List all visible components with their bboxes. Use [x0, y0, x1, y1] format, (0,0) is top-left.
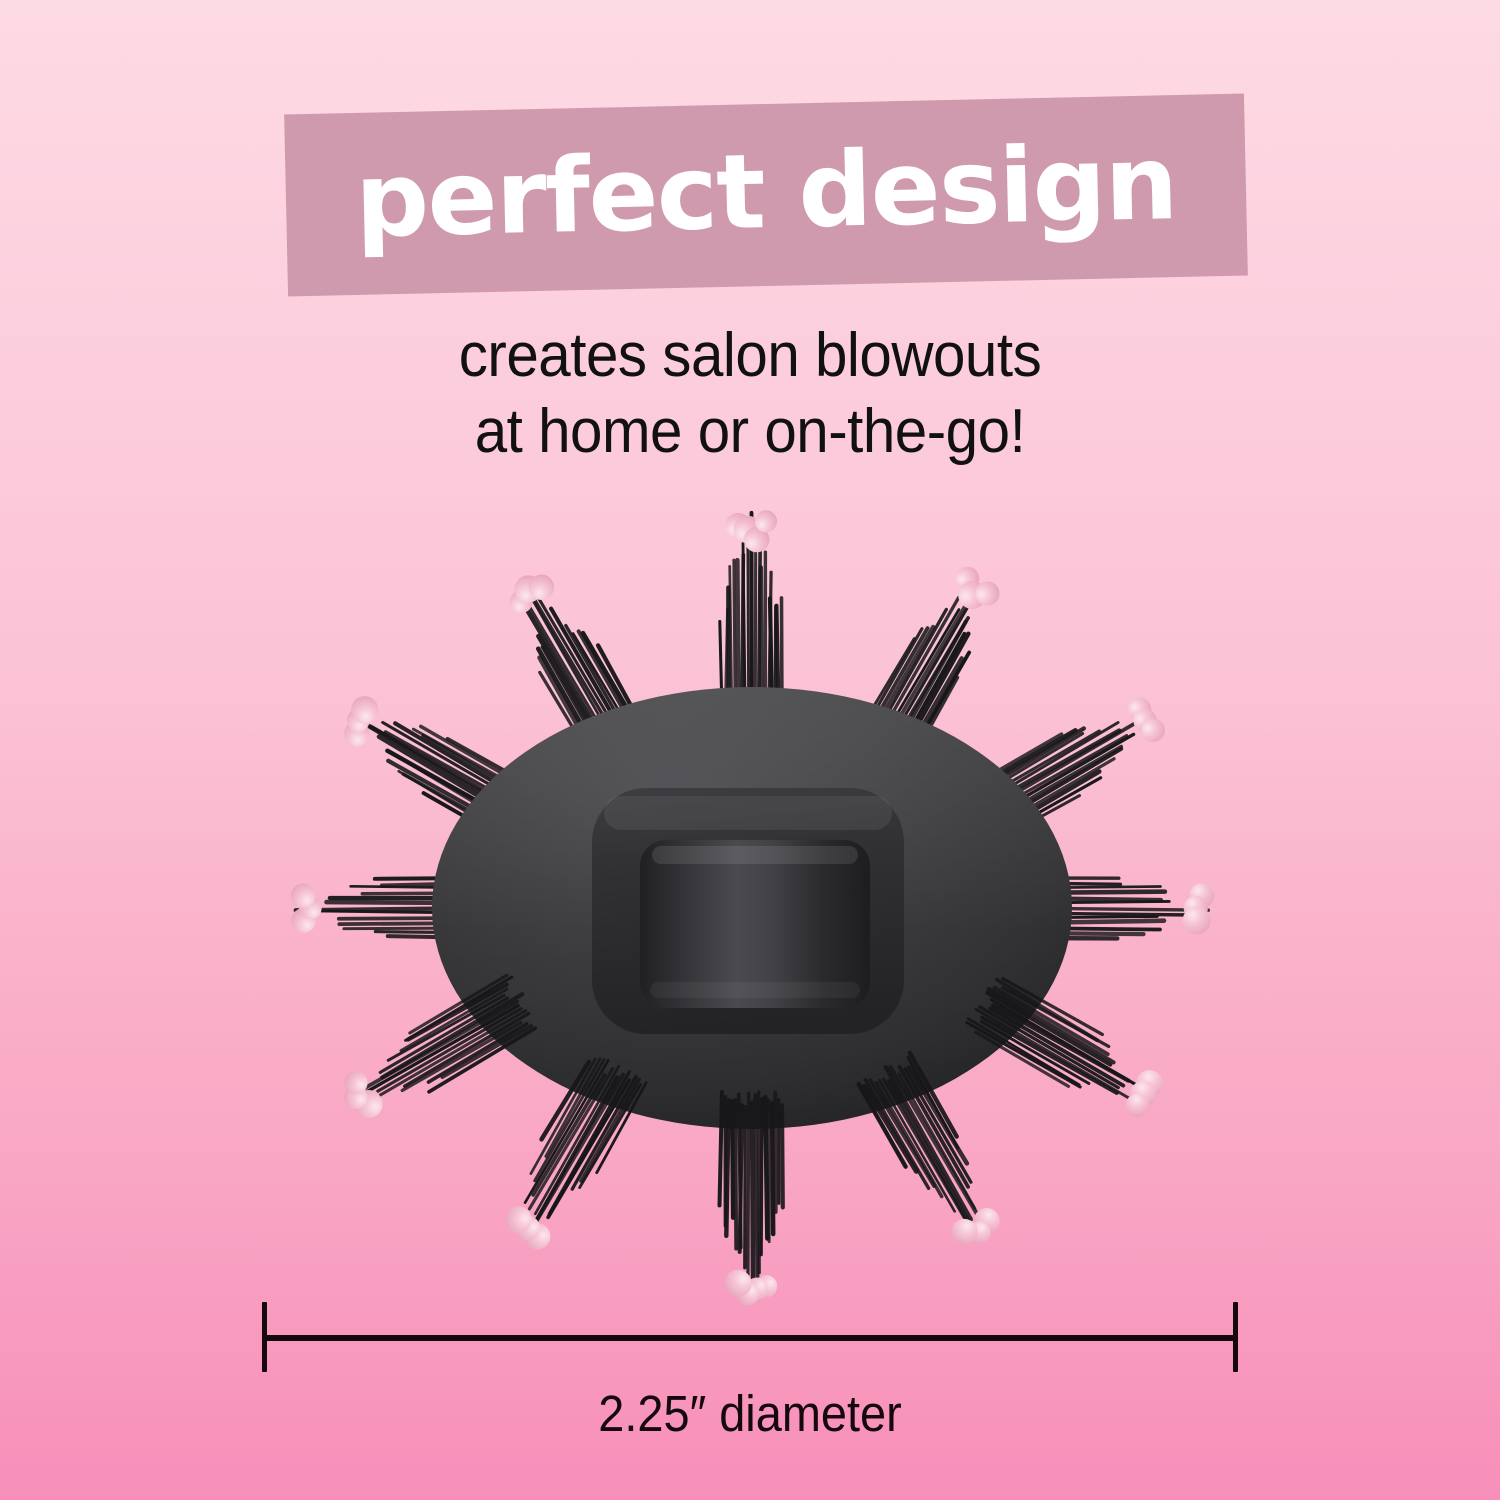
bristle-filament: [527, 610, 608, 748]
bristle-filament: [775, 606, 776, 713]
bristle-filament: [975, 1032, 1068, 1086]
bristle-filament: [1029, 901, 1169, 903]
bristle-filament: [782, 1105, 783, 1207]
brush-body-ellipse: [432, 687, 1072, 1129]
bristle-filament: [1003, 986, 1109, 1049]
bristle-ball-tip: [724, 1270, 751, 1297]
bristle-filament: [986, 734, 1126, 816]
bristle-filament: [1014, 913, 1193, 915]
bristle-filament: [981, 1021, 1089, 1083]
bristle-filament: [542, 1061, 589, 1141]
bristle-filament: [996, 749, 1122, 822]
bristle-filament: [538, 636, 601, 745]
brush-center-plateau: [592, 788, 904, 1034]
bristle-filament: [980, 1007, 1119, 1088]
brush-body-group: [432, 687, 1072, 1129]
bristle-filament: [743, 543, 745, 719]
bristle-filament: [734, 560, 735, 722]
bristle-ball-tip: [971, 577, 1004, 610]
bristle-filament: [909, 1066, 967, 1164]
bristle-ball-tip: [946, 1214, 982, 1250]
tuft-1-oclock: [857, 560, 1010, 765]
bristle-ball-tip: [734, 516, 762, 544]
bristle-filament: [296, 908, 489, 910]
bristle-filament: [409, 975, 507, 1033]
brush-center-cap: [640, 840, 870, 1008]
bristle-filament: [401, 989, 507, 1051]
tuft-9-oclock: [291, 878, 490, 938]
bristle-filament: [1021, 928, 1160, 930]
bristle-filament: [344, 928, 478, 929]
bristle-filament: [548, 1072, 631, 1214]
bristle-filament: [1020, 898, 1161, 900]
bristle-filament: [870, 609, 947, 742]
bristle-filament: [428, 1024, 528, 1082]
bristle-filament: [539, 598, 626, 746]
bristle-filament: [967, 1018, 1080, 1084]
bristle-filament: [777, 606, 779, 717]
bristle-filament: [1016, 883, 1120, 884]
bristle-filament: [761, 1099, 762, 1255]
bristle-filament: [573, 633, 636, 740]
bristle-filament: [988, 989, 1114, 1062]
bristle-filament: [890, 1066, 979, 1219]
bristle-filament: [534, 1060, 604, 1181]
bristle-filament: [899, 1067, 968, 1187]
bristle-filament: [578, 631, 634, 727]
bristle-filament: [755, 1095, 757, 1282]
bristle-filament: [981, 728, 1085, 789]
bristle-filament: [759, 532, 761, 710]
bristle-filament: [742, 555, 743, 722]
bristle-filament: [529, 1068, 612, 1210]
bristle-filament: [720, 1092, 723, 1206]
tuft-7-oclock: [492, 1050, 649, 1257]
bristle-filament: [994, 988, 1108, 1054]
bristle-filament: [769, 1100, 770, 1242]
bristle-filament: [544, 1059, 601, 1157]
bristle-filament: [375, 878, 482, 879]
dimension-line: [262, 1302, 1238, 1374]
bristle-filament: [388, 994, 504, 1062]
bristle-filament: [413, 727, 535, 799]
bristle-filament: [388, 936, 485, 938]
bristle-filament: [394, 723, 530, 803]
bristle-filament: [745, 1107, 746, 1268]
subtitle-line-2: at home or on-the-go!: [45, 394, 1455, 470]
bristle-filament: [383, 722, 518, 800]
bristle-filament: [888, 1081, 978, 1235]
bristle-filament: [529, 1059, 596, 1174]
cap-bottom-highlight: [650, 982, 860, 998]
tuft-10-oclock: [332, 688, 540, 843]
bristle-ball-tip: [291, 908, 316, 933]
bristle-ball-tip: [340, 1067, 372, 1099]
bristle-ball-tip: [744, 527, 770, 553]
bristle-filament: [988, 729, 1119, 806]
bristle-filament: [981, 731, 1099, 799]
bristle-filament: [378, 737, 510, 814]
tuft-5-oclock: [857, 1053, 1011, 1258]
bristle-filament: [339, 923, 490, 924]
bristle-ball-tip: [1189, 883, 1214, 908]
bristle-filament: [995, 771, 1100, 832]
bristle-ball-tip: [725, 513, 751, 539]
bristle-filament: [726, 1100, 728, 1236]
bristle-ball-tip: [511, 1211, 545, 1245]
bristle-ball-tip: [755, 1275, 778, 1298]
bristle-filament: [538, 658, 592, 750]
bristle-filament: [905, 1068, 971, 1182]
bristle-ball-tip: [964, 1217, 995, 1248]
bristle-ball-tip: [339, 716, 374, 751]
bristle-filament: [737, 560, 738, 723]
bristle-filament: [769, 572, 771, 719]
bristle-tufts-behind: [291, 510, 1214, 938]
bristle-filament: [730, 566, 732, 721]
dimension-rule: [264, 1335, 1236, 1341]
bristle-ball-tip: [1183, 906, 1211, 934]
bristle-filament: [987, 993, 1111, 1065]
bristle-ball-tip: [524, 570, 559, 605]
bristle-ball-tip: [519, 1218, 555, 1254]
bristle-ball-tip: [506, 586, 537, 617]
bristle-filament: [376, 1011, 526, 1098]
bristle-ball-tip: [291, 883, 315, 907]
bristle-filament: [583, 633, 643, 736]
brush-body-rim-light: [432, 687, 1072, 1129]
bristle-filament: [1020, 887, 1160, 889]
bristle-ball-tip: [299, 897, 322, 920]
bristle-filament: [387, 749, 513, 823]
bristle-filament: [533, 1074, 623, 1228]
bristle-filament: [885, 590, 978, 750]
bristle-filament: [375, 932, 489, 933]
bristle-ball-tip: [755, 510, 777, 532]
bristle-filament: [976, 1009, 1129, 1098]
bristle-filament: [748, 536, 749, 717]
bristle-ball-tip: [1129, 705, 1161, 737]
cap-top-highlight: [652, 846, 858, 864]
bristle-filament: [580, 1079, 639, 1181]
bristle-ball-tip: [1121, 1089, 1153, 1121]
headline-banner: perfect design: [284, 94, 1248, 297]
bristle-filament: [988, 734, 1134, 818]
bristle-filament: [971, 733, 1084, 799]
bristle-filament: [381, 994, 523, 1077]
bristle-filament: [990, 1000, 1146, 1091]
bristle-filament: [735, 1100, 736, 1249]
bristle-filament: [995, 777, 1101, 839]
product-feature-card: perfect design creates salon blowouts at…: [0, 0, 1500, 1500]
bristle-filament: [990, 1008, 1123, 1085]
bristle-filament: [385, 730, 514, 806]
bristle-filament: [1003, 977, 1102, 1035]
tuft-6-oclock: [720, 1092, 783, 1306]
bristle-filament: [1000, 759, 1114, 825]
bristle-filament: [442, 1026, 531, 1077]
bristle-filament: [595, 1083, 648, 1173]
bristle-filament: [898, 1074, 977, 1209]
bristle-filament: [982, 1016, 1117, 1095]
bristle-filament: [371, 725, 517, 810]
bristle-filament: [1017, 892, 1165, 893]
bristle-filament: [533, 1074, 604, 1196]
bristle-filament: [887, 592, 973, 739]
bristle-filament: [732, 1101, 733, 1218]
bristle-filament: [892, 622, 968, 752]
bristle-filament: [405, 977, 513, 1040]
bristle-filament: [752, 513, 753, 723]
bristle-filament: [538, 649, 595, 747]
dimension-caption: 2.25″ diameter: [60, 1384, 1440, 1443]
bristle-filament: [534, 1066, 620, 1214]
bristle-ball-tip: [1125, 1076, 1161, 1112]
bristle-filament: [993, 746, 1121, 820]
bristle-filament: [327, 902, 482, 903]
bristle-filament: [388, 759, 514, 833]
headline-title: perfect design: [284, 94, 1248, 297]
bristle-ball-tip: [1137, 714, 1169, 746]
bristle-filament: [391, 754, 513, 826]
bristle-filament: [528, 604, 612, 748]
bristle-filament: [428, 1028, 536, 1092]
bristle-filament: [869, 627, 933, 739]
bristle-filament: [423, 736, 528, 797]
tuft-2-oclock: [966, 688, 1173, 844]
bristle-filament: [876, 1083, 942, 1197]
bristle-ball-tip: [746, 1278, 768, 1300]
bristle-filament: [447, 738, 531, 787]
bristle-filament: [356, 1005, 518, 1099]
bristle-filament: [378, 1009, 521, 1092]
bristle-ball-tip: [1184, 896, 1208, 920]
bristle-filament: [525, 582, 622, 748]
bristle-filament: [909, 1053, 958, 1137]
plateau-top-highlight: [604, 796, 892, 830]
bristle-filament: [895, 617, 969, 743]
bristle-filament: [993, 1003, 1128, 1083]
bristle-filament: [864, 628, 928, 738]
bristle-filament: [761, 568, 762, 710]
bristle-filament: [351, 886, 483, 888]
bristle-filament: [1014, 908, 1208, 910]
bristle-filament: [1025, 921, 1164, 923]
bristle-filament: [1020, 933, 1144, 934]
bristle-filament: [860, 629, 922, 736]
bristle-ball-tip: [500, 1201, 537, 1238]
bristle-ball-tip: [509, 570, 546, 607]
tuft-12-oclock: [720, 510, 782, 723]
bristle-filament: [408, 983, 507, 1041]
bristle-filament: [759, 1092, 760, 1273]
bristle-filament: [596, 645, 645, 727]
bristle-filament: [752, 1103, 753, 1296]
bristle-filament: [870, 1079, 934, 1187]
bristle-filament: [424, 793, 506, 841]
bristle-filament: [782, 598, 783, 716]
bristle-filament: [309, 911, 477, 913]
bristle-filament: [548, 1079, 629, 1218]
subtitle-block: creates salon blowouts at home or on-the…: [45, 318, 1455, 469]
bristle-filament: [1002, 794, 1080, 840]
bristle-tufts-front: [331, 972, 1171, 1305]
bristle-filament: [967, 1022, 1080, 1088]
bristle-filament: [906, 1057, 959, 1148]
bristle-filament: [404, 1014, 529, 1087]
bristle-filament: [770, 598, 772, 713]
bristle-filament: [382, 883, 481, 885]
bristle-filament: [913, 678, 959, 756]
bristle-filament: [739, 1094, 741, 1247]
bristle-filament: [996, 980, 1099, 1040]
bristle-filament: [380, 998, 508, 1073]
bristle-filament: [720, 621, 722, 711]
bristle-filament: [884, 1067, 973, 1219]
bristle-filament: [748, 1093, 749, 1289]
tuft-8-oclock: [331, 973, 541, 1130]
bristle-filament: [526, 589, 614, 741]
bristle-filament: [1025, 917, 1157, 919]
bristle-filament: [902, 634, 971, 751]
bristle-filament: [968, 730, 1076, 792]
bristle-ball-tip: [346, 691, 383, 728]
bristle-filament: [865, 1079, 928, 1188]
bristle-ball-tip: [1131, 1065, 1168, 1102]
bristle-ball-tip: [350, 1085, 388, 1123]
bristle-filament: [566, 626, 630, 736]
bristle-filament: [864, 638, 914, 723]
bristle-ball-tip: [952, 562, 984, 594]
bristle-filament: [541, 647, 601, 751]
bristle-filament: [765, 1097, 767, 1238]
bristle-filament: [403, 772, 512, 836]
bristle-filament: [339, 918, 475, 919]
bristle-ball-tip: [340, 1081, 372, 1113]
bristle-filament: [990, 717, 1146, 808]
bristle-filament: [571, 1077, 637, 1190]
bristle-filament: [879, 609, 958, 745]
bristle-filament: [906, 658, 962, 754]
tuft-11-oclock: [494, 561, 649, 765]
bristle-filament: [772, 1103, 773, 1234]
tuft-4-oclock: [964, 972, 1171, 1127]
bristle-filament: [551, 609, 628, 743]
bristle-filament: [352, 717, 525, 818]
bristle-filament: [528, 1077, 619, 1232]
bristle-filament: [365, 1001, 517, 1090]
bristle-filament: [362, 893, 488, 894]
bristle-filament: [525, 1060, 608, 1203]
bristle-filament: [907, 652, 969, 759]
bristle-filament: [740, 1105, 742, 1252]
bristle-filament: [879, 1080, 955, 1211]
bristle-filament: [884, 1079, 970, 1226]
bristle-filament: [875, 598, 959, 743]
bristle-filament: [402, 1022, 521, 1091]
bristle-filament: [864, 1085, 916, 1173]
bristle-filament: [398, 771, 505, 834]
tuft-3-oclock: [1014, 878, 1214, 938]
bristle-filament: [421, 726, 525, 786]
bristle-ball-tip: [343, 705, 374, 736]
bristle-ball-tip: [953, 576, 992, 615]
bristle-filament: [540, 672, 593, 762]
bristle-ball-tip: [969, 1203, 1005, 1239]
bristle-filament: [580, 1084, 641, 1188]
bristle-filament: [986, 722, 1119, 800]
bristle-filament: [858, 1084, 906, 1167]
bristle-ball-tip: [1124, 694, 1155, 725]
bristle-filament: [973, 734, 1061, 785]
bristle-filament: [901, 634, 965, 744]
subtitle-line-1: creates salon blowouts: [45, 318, 1455, 394]
bristle-filament: [725, 609, 727, 712]
